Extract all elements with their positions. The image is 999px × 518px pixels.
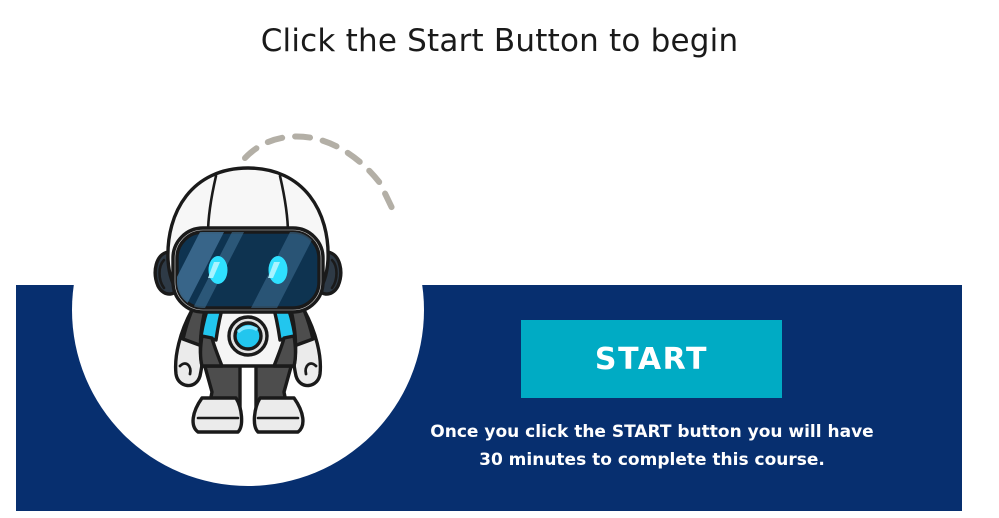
instruction-caption: Once you click the START button you will… xyxy=(424,418,880,474)
start-button[interactable]: START xyxy=(521,320,782,398)
instruction-line-2: 30 minutes to complete this course. xyxy=(424,446,880,474)
instruction-line-1: Once you click the START button you will… xyxy=(424,418,880,446)
screen: Click the Start Button to begin xyxy=(0,0,999,518)
astronaut-robot-mascot-icon xyxy=(140,160,356,440)
page-title: Click the Start Button to begin xyxy=(0,19,999,63)
